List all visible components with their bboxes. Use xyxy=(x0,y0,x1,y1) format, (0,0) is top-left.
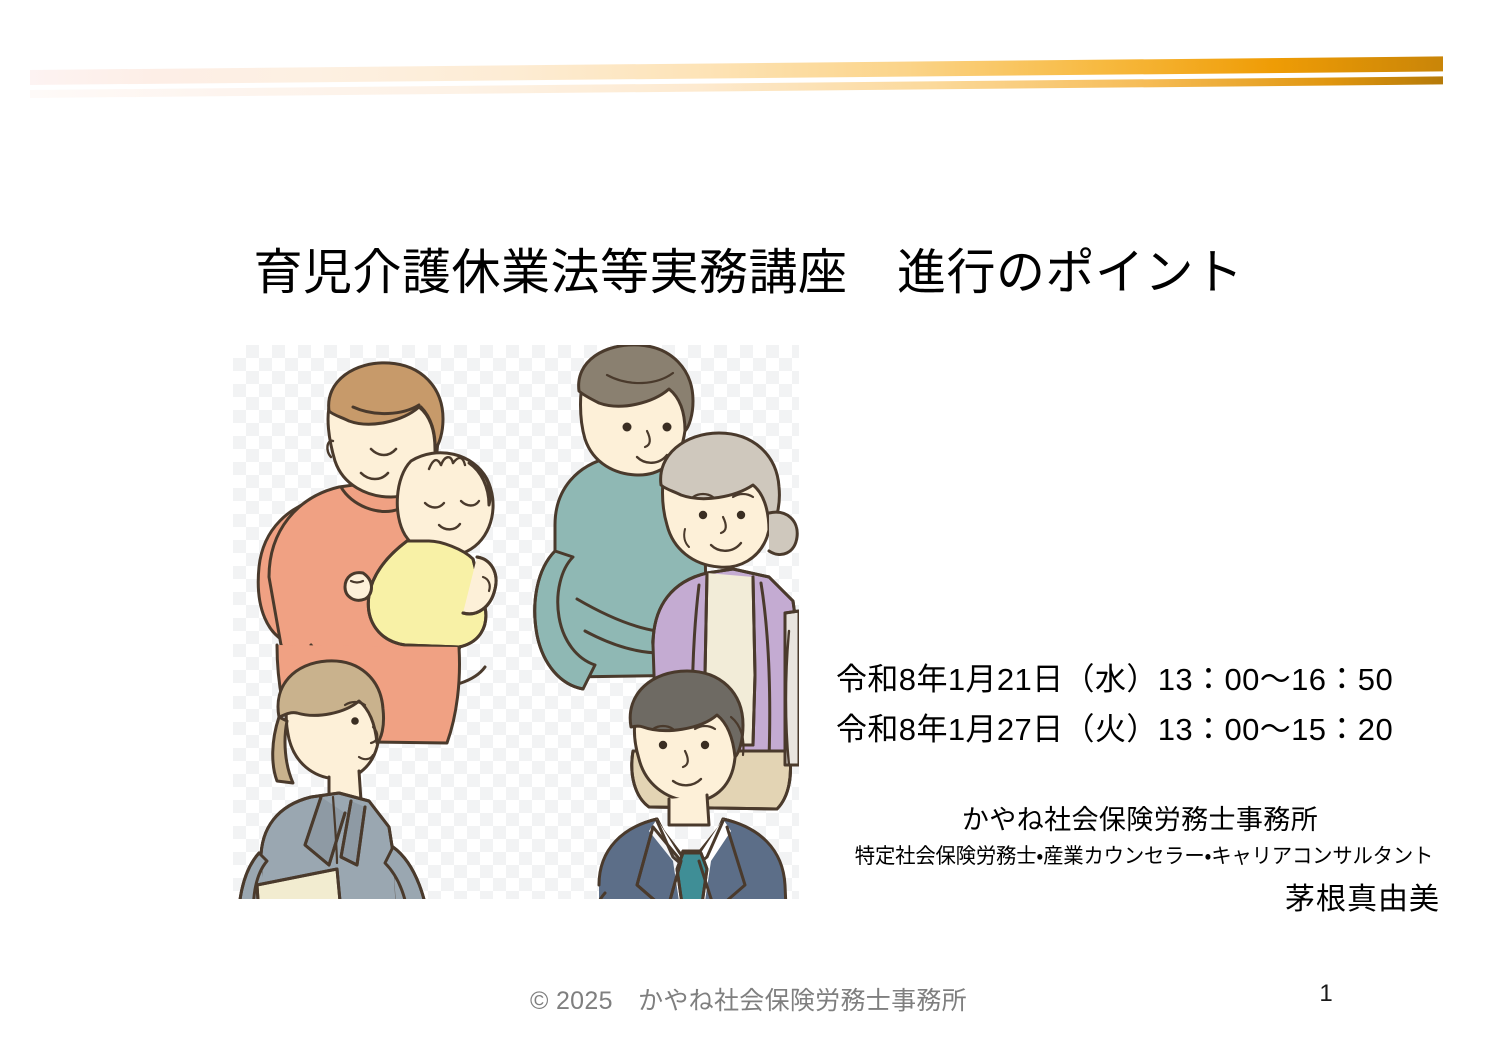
event-date-line-2: 令和8年1月27日（火）13：00〜15：20 xyxy=(836,705,1456,755)
presenter-block: かやね社会保険労務士事務所 特定社会保険労務士・産業カウンセラー・キャリアコンサ… xyxy=(836,800,1452,926)
illustration-collage xyxy=(233,345,799,899)
presenter-name: 茅根真由美 xyxy=(836,874,1452,926)
presentation-slide: 育児介護休業法等実務講座 進行のポイント xyxy=(0,0,1497,1058)
office-name: かやね社会保険労務士事務所 xyxy=(836,800,1452,840)
footer-copyright: © 2025 かやね社会保険労務士事務所 xyxy=(0,981,1497,1017)
event-date-block: 令和8年1月21日（水）13：00〜16：50 令和8年1月27日（火）13：0… xyxy=(836,655,1456,755)
illustration-artwork xyxy=(233,345,799,899)
decorative-band-secondary xyxy=(30,76,1443,98)
presenter-credentials: 特定社会保険労務士・産業カウンセラー・キャリアコンサルタント xyxy=(845,840,1443,874)
decorative-band-primary xyxy=(30,56,1443,85)
event-date-line-1: 令和8年1月21日（水）13：00〜16：50 xyxy=(836,655,1456,705)
header-decoration xyxy=(0,0,1497,140)
page-number: 1 xyxy=(1296,980,1356,1008)
page-title: 育児介護休業法等実務講座 進行のポイント xyxy=(0,245,1497,301)
